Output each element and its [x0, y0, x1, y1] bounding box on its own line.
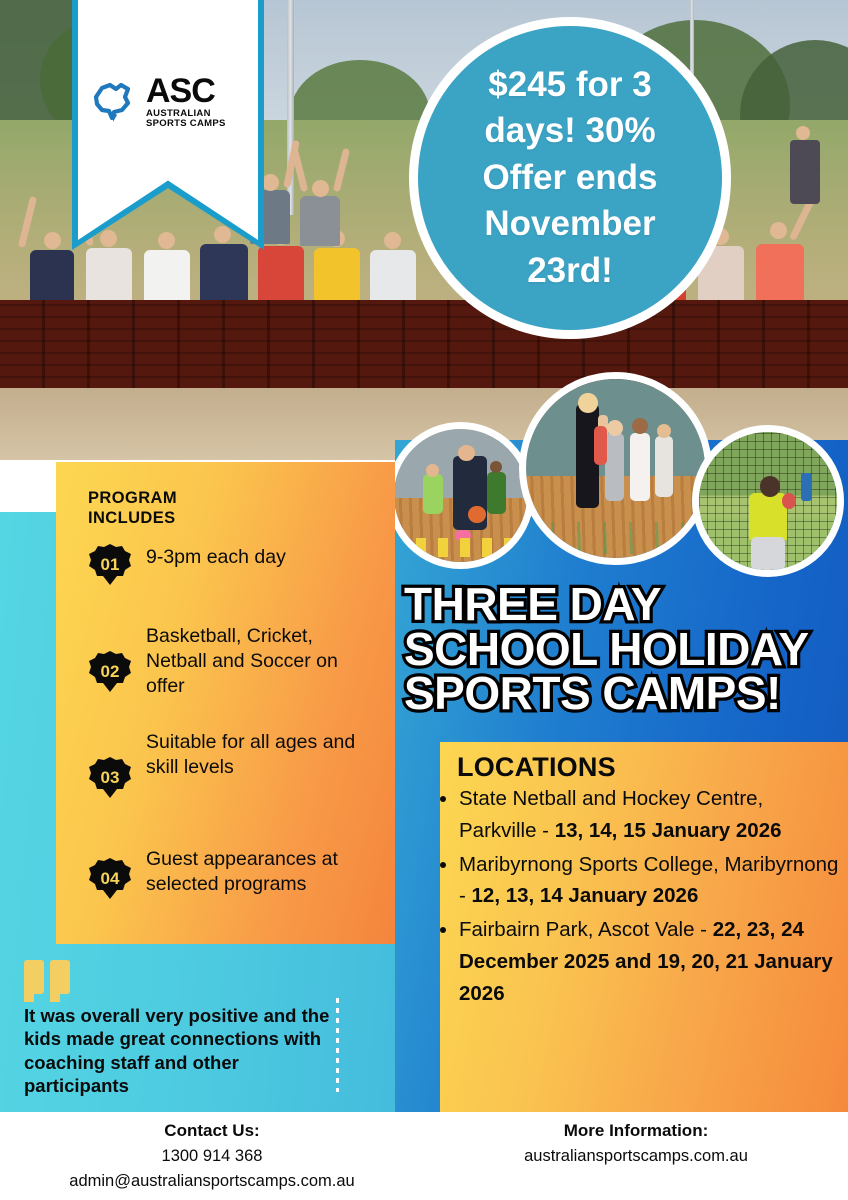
more-info-heading: More Information: — [424, 1118, 848, 1144]
testimonial-text: It was overall very positive and the kid… — [24, 1004, 336, 1098]
program-item: 01 9-3pm each day — [88, 543, 378, 587]
program-item-text: Guest appearances at selected programs — [146, 845, 388, 897]
locations-list: State Netball and Hockey Centre, Parkvil… — [441, 783, 841, 1011]
contact-email[interactable]: admin@australiansportscamps.com.au — [0, 1169, 424, 1195]
logo-subtitle-1: AUSTRALIAN — [146, 109, 226, 119]
program-item: 03 Suitable for all ages and skill level… — [88, 728, 378, 800]
program-heading: PROGRAM INCLUDES — [88, 488, 177, 528]
location-venue: Fairbairn Park, Ascot Vale - — [459, 918, 713, 941]
asc-logo: ASC AUSTRALIAN SPORTS CAMPS — [92, 62, 248, 140]
program-item-number: 02 — [88, 650, 132, 694]
promo-badge[interactable]: $245 for 3 days! 30% Offer ends November… — [409, 17, 731, 339]
number-badge-icon: 04 — [88, 857, 132, 901]
program-item-number: 04 — [88, 857, 132, 901]
footer-contact-block: Contact Us: 1300 914 368 admin@australia… — [0, 1118, 424, 1195]
program-item-number: 01 — [88, 543, 132, 587]
logo-initials: ASC — [146, 74, 226, 108]
location-dates: 12, 13, 14 January 2026 — [472, 884, 699, 907]
number-badge-icon: 01 — [88, 543, 132, 587]
page-title: THREE DAY SCHOOL HOLIDAY SPORTS CAMPS! — [404, 582, 848, 716]
location-item: State Netball and Hockey Centre, Parkvil… — [459, 783, 841, 847]
program-item-number: 03 — [88, 756, 132, 800]
photo-circle-netball-coaching — [519, 372, 712, 565]
number-badge-icon: 03 — [88, 756, 132, 800]
location-item: Maribyrnong Sports College, Maribyrnong … — [459, 849, 841, 913]
poster-root: ASC AUSTRALIAN SPORTS CAMPS $245 for 3 d… — [0, 0, 848, 1200]
contact-phone[interactable]: 1300 914 368 — [0, 1144, 424, 1170]
locations-heading: LOCATIONS — [457, 752, 616, 783]
promo-badge-text: $245 for 3 days! 30% Offer ends November… — [418, 62, 722, 295]
program-item-text: 9-3pm each day — [146, 543, 286, 570]
location-item: Fairbairn Park, Ascot Vale - 22, 23, 24 … — [459, 914, 841, 1009]
program-heading-line2: INCLUDES — [88, 508, 177, 528]
photo-circle-basketball — [387, 422, 534, 569]
program-item-text: Basketball, Cricket, Netball and Soccer … — [146, 622, 378, 699]
location-dates: 13, 14, 15 January 2026 — [555, 819, 782, 842]
website-link[interactable]: australiansportscamps.com.au — [424, 1144, 848, 1170]
quote-mark-icon — [24, 960, 74, 1000]
australia-map-icon — [92, 79, 140, 123]
dotted-divider — [336, 998, 339, 1092]
program-item: 04 Guest appearances at selected program… — [88, 845, 388, 901]
program-item: 02 Basketball, Cricket, Netball and Socc… — [88, 622, 378, 699]
contact-heading: Contact Us: — [0, 1118, 424, 1144]
program-item-text: Suitable for all ages and skill levels — [146, 728, 378, 780]
brick-wall — [0, 300, 848, 388]
photo-circle-cricket-nets — [692, 425, 844, 577]
footer-info-block: More Information: australiansportscamps.… — [424, 1118, 848, 1169]
number-badge-icon: 02 — [88, 650, 132, 694]
logo-subtitle-2: SPORTS CAMPS — [146, 119, 226, 129]
program-heading-line1: PROGRAM — [88, 488, 177, 508]
